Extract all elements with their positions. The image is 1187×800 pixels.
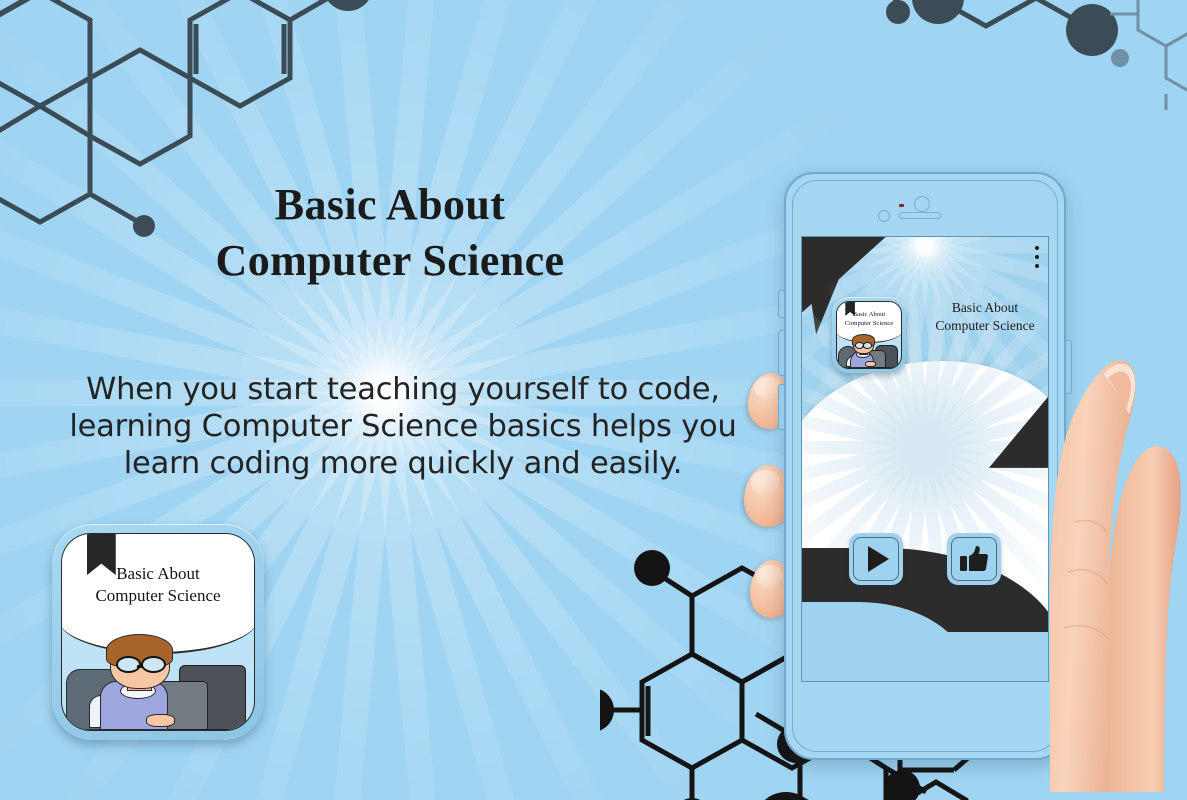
page-title-line-2: Computer Science [60,233,720,288]
page-title: Basic About Computer Science [60,177,720,288]
front-camera-lens-icon [914,196,930,212]
page-title-line-1: Basic About [60,177,720,232]
screen-app-icon-title-line-1: Basic About [837,311,901,319]
proximity-sensor-icon [899,204,904,207]
screen-app-title-line-1: Basic About [917,299,1049,317]
screen-app-icon[interactable]: Basic About Computer Science [832,297,906,373]
screen-app-title-line-2: Computer Science [917,317,1049,335]
phone-mockup: Basic About Computer Science [784,172,1066,760]
phone-screen: Basic About Computer Science [801,236,1049,682]
description-line-2: learning Computer Science basics helps y… [58,408,748,445]
app-icon[interactable]: Basic About Computer Science [52,524,264,740]
screen-action-buttons [802,533,1048,585]
promo-banner: Basic About Computer Science When you st… [0,0,1187,800]
screen-bottom-band [802,632,1048,681]
play-triangle-icon [868,546,889,572]
hexagon-molecule-cluster-top-right-far [1110,0,1187,110]
volume-down-button[interactable] [778,384,785,430]
hexagon-molecule-cluster-top-right [726,0,1187,90]
front-camera-icon [878,210,890,222]
screen-app-icon-title-line-2: Computer Science [837,320,901,328]
app-icon-title: Basic About Computer Science [62,563,254,607]
screen-app-title: Basic About Computer Science [917,299,1049,334]
boy-at-computer-illustration [837,334,901,368]
play-button[interactable] [849,533,903,585]
app-icon-title-line-1: Basic About [62,563,254,585]
three-dot-menu[interactable] [1035,246,1039,268]
description-text: When you start teaching yourself to code… [58,371,748,483]
description-line-1: When you start teaching yourself to code… [58,371,748,408]
screen-app-icon-artwork: Basic About Computer Science [836,301,902,369]
mute-switch[interactable] [778,290,785,318]
volume-up-button[interactable] [778,330,785,376]
thumbs-up-icon [959,545,989,573]
boy-at-computer-illustration [62,628,254,730]
power-button[interactable] [1065,340,1072,394]
rate-button[interactable] [947,533,1001,585]
description-line-3: learn coding more quickly and easily. [58,445,748,482]
app-icon-artwork: Basic About Computer Science [61,533,255,731]
app-icon-title-line-2: Computer Science [62,585,254,607]
screen-app-icon-title: Basic About Computer Science [837,311,901,328]
earpiece-speaker-icon [899,212,941,219]
